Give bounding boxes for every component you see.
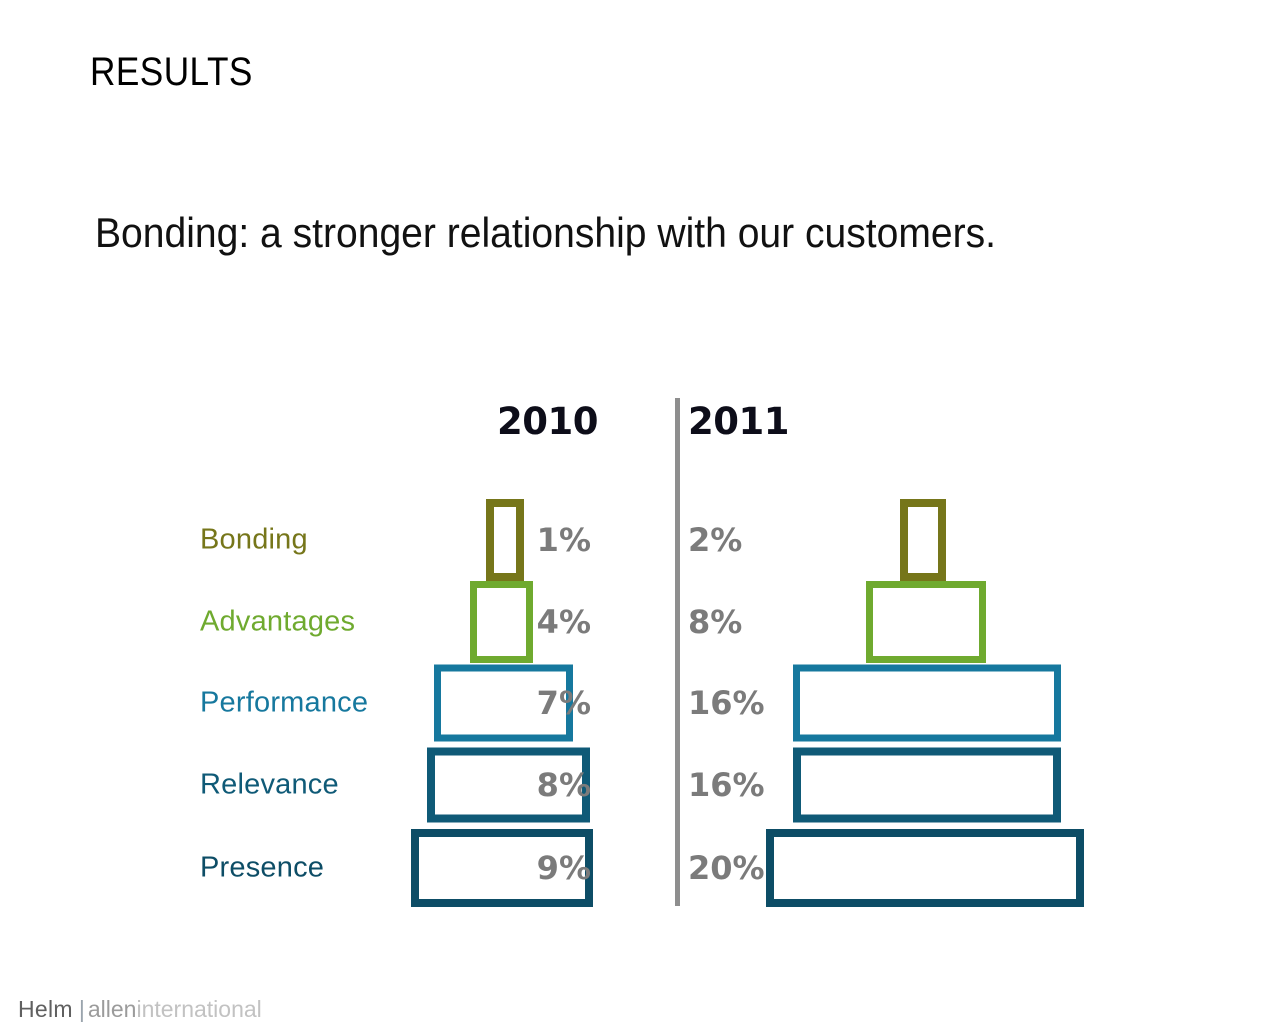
value-2010-presence: 9% <box>537 849 591 887</box>
row-label-relevance: Relevance <box>200 769 339 802</box>
logo-international-text: international <box>136 996 261 1023</box>
value-2011-relevance: 16% <box>688 766 765 804</box>
value-2011-performance: 16% <box>688 684 765 722</box>
value-2010-relevance: 8% <box>537 766 591 804</box>
value-2010-advantages: 4% <box>537 603 591 641</box>
bar-2010-bonding <box>486 499 524 581</box>
value-2011-advantages: 8% <box>688 603 742 641</box>
row-label-advantages: Advantages <box>200 606 355 639</box>
row-label-performance: Performance <box>200 687 368 720</box>
bar-2010-advantages <box>470 581 533 663</box>
bar-2011-advantages <box>866 581 986 663</box>
row-label-bonding: Bonding <box>200 524 308 557</box>
row-label-presence: Presence <box>200 852 324 885</box>
bar-2011-relevance <box>793 748 1061 823</box>
logo-allen-text: allen <box>88 996 137 1023</box>
center-divider <box>675 398 680 906</box>
column-header-2011: 2011 <box>688 400 789 443</box>
value-2010-bonding: 1% <box>537 521 591 559</box>
bar-2011-performance <box>793 665 1061 742</box>
logo-helm-text: Helm <box>18 996 73 1023</box>
value-2011-presence: 20% <box>688 849 765 887</box>
column-header-2010: 2010 <box>497 400 598 443</box>
value-2010-performance: 7% <box>537 684 591 722</box>
pyramid-comparison-chart: 2010 2011 Bonding1%2%Advantages4%8%Perfo… <box>0 0 1281 1029</box>
value-2011-bonding: 2% <box>688 521 742 559</box>
footer-logo: Helm | allen international <box>18 996 262 1023</box>
logo-separator: | <box>79 996 85 1023</box>
bar-2011-bonding <box>900 499 946 581</box>
bar-2011-presence <box>766 829 1084 907</box>
